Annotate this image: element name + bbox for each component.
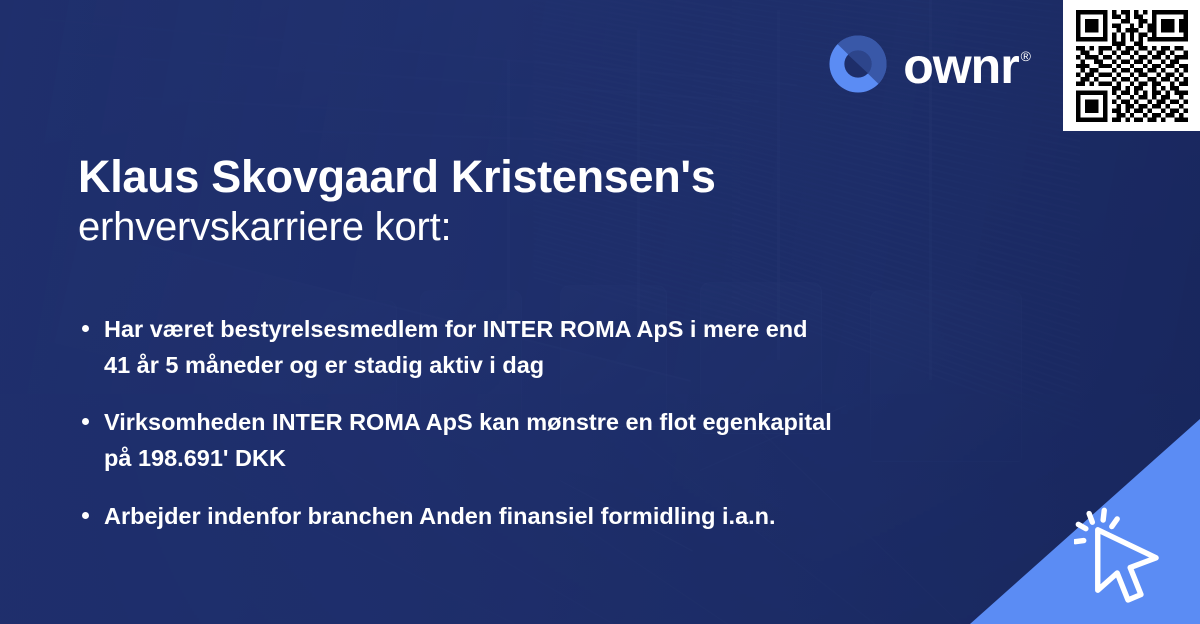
career-summary-card: ownr® Klaus Skovgaard Kristensen's erhve…: [0, 0, 1200, 624]
registered-trademark-symbol: ®: [1021, 48, 1030, 64]
fact-line-2: 41 år 5 måneder og er stadig aktiv i dag: [104, 348, 1018, 384]
list-item: Virksomheden INTER ROMA ApS kan mønstre …: [78, 405, 1018, 476]
career-facts-list: Har været bestyrelsesmedlem for INTER RO…: [78, 312, 1018, 535]
page-title: Klaus Skovgaard Kristensen's erhvervskar…: [78, 152, 1038, 252]
fact-line-2: på 198.691' DKK: [104, 441, 1018, 477]
ownr-wordmark: ownr®: [903, 41, 1028, 91]
headline-line-2: erhvervskarriere kort:: [78, 202, 1038, 252]
ownr-wordmark-text: ownr: [903, 38, 1018, 94]
fact-line-1: Virksomheden INTER ROMA ApS kan mønstre …: [104, 405, 1018, 441]
fact-line-1: Arbejder indenfor branchen Anden finansi…: [104, 499, 1018, 535]
fact-line-1: Har været bestyrelsesmedlem for INTER RO…: [104, 312, 1018, 348]
qr-code-panel[interactable]: [1063, 0, 1200, 131]
ownr-circle-logo-icon: [827, 33, 889, 95]
list-item: Har været bestyrelsesmedlem for INTER RO…: [78, 312, 1018, 383]
bullet-icon: [82, 418, 89, 425]
list-item: Arbejder indenfor branchen Anden finansi…: [78, 499, 1018, 535]
bullet-icon: [82, 512, 89, 519]
qr-code[interactable]: [1076, 10, 1188, 122]
ownr-brand-logo[interactable]: ownr®: [827, 33, 1028, 95]
headline-line-1: Klaus Skovgaard Kristensen's: [78, 152, 1038, 202]
click-cursor-icon: [1074, 506, 1182, 614]
bullet-icon: [82, 325, 89, 332]
